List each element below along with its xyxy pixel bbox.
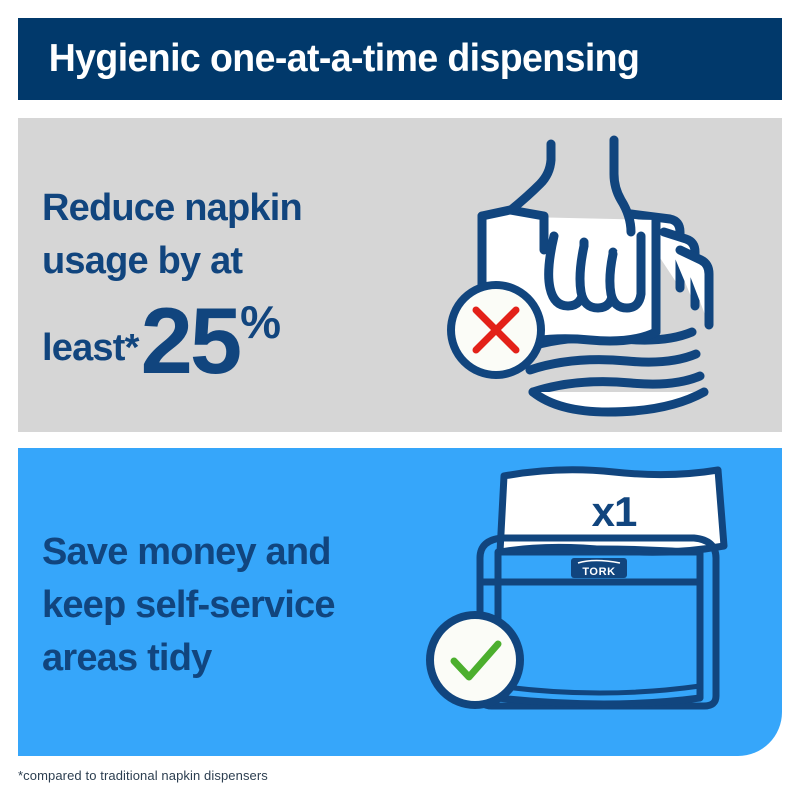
infographic-root: Hygienic one-at-a-time dispensing Reduce… [0, 0, 800, 800]
tork-dispenser-illustration: x1 TORK [418, 448, 782, 756]
footnote: *compared to traditional napkin dispense… [18, 768, 268, 783]
red-x-circle-badge [451, 285, 541, 375]
hand-grabbing-napkin-stack-illustration [418, 120, 782, 432]
save-line-2: keep self-service [42, 579, 442, 632]
page-title: Hygienic one-at-a-time dispensing [18, 37, 639, 81]
save-money-text: Save money and keep self-service areas t… [42, 526, 442, 685]
napkin-stack-bottom [533, 392, 704, 412]
tork-logo: TORK [571, 558, 627, 578]
panel-reduce-usage: Reduce napkin usage by at least* 25 % [18, 118, 782, 432]
wrist-stroke [614, 140, 631, 232]
panel-save-money: Save money and keep self-service areas t… [18, 448, 782, 756]
check-badge-circle [430, 615, 520, 705]
napkin-count-label: x1 [592, 488, 637, 535]
green-check-circle-badge [430, 615, 520, 705]
reduce-line-1: Reduce napkin [42, 182, 422, 235]
tork-logo-text: TORK [582, 566, 615, 578]
reduce-line-2: usage by at [42, 235, 422, 288]
reduce-percentage-number: 25 [141, 301, 240, 381]
reduce-least-label: least* [42, 322, 139, 375]
napkin-fan-line-2 [530, 354, 696, 370]
save-line-1: Save money and [42, 526, 442, 579]
thumb-stroke [511, 144, 551, 210]
dispenser-bottom-edge [498, 686, 700, 693]
header-bar: Hygienic one-at-a-time dispensing [18, 18, 782, 100]
percent-symbol: % [240, 299, 280, 345]
save-line-3: areas tidy [42, 632, 442, 685]
reduce-line-3: least* 25 % [42, 288, 422, 375]
reduce-usage-text: Reduce napkin usage by at least* 25 % [42, 182, 422, 375]
napkin-fan-line-3 [533, 376, 700, 392]
